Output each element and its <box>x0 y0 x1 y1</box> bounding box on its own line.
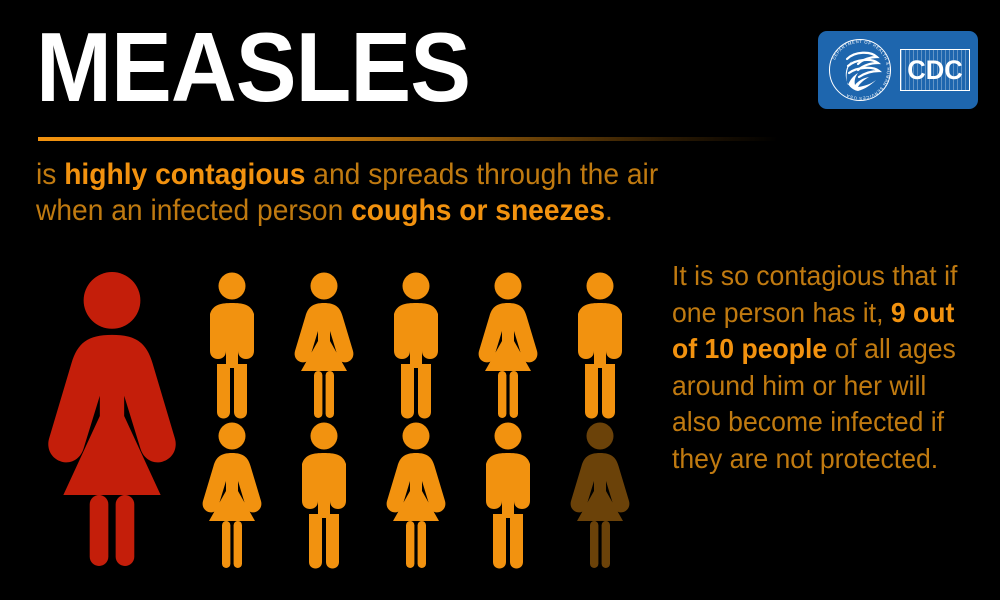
subtitle-part-3: . <box>605 194 613 227</box>
person-figure-male <box>472 421 544 569</box>
person-figure-female-protected <box>564 421 636 569</box>
person-figure-male <box>196 271 268 419</box>
cdc-logo[interactable]: DEPARTMENT OF HEALTH & HUMAN SERVICES US… <box>818 31 978 109</box>
person-figure-male <box>288 421 360 569</box>
person-figure-male <box>380 271 452 419</box>
person-figure-female <box>472 271 544 419</box>
subtitle-part-1: is <box>36 158 64 191</box>
page-title: MEASLES <box>36 18 470 116</box>
person-figure-male <box>564 271 636 419</box>
measles-infographic: MEASLES is highly contagious and spreads… <box>0 0 1000 600</box>
title-divider <box>38 137 778 141</box>
contagion-explanation: It is so contagious that if one person h… <box>672 258 976 477</box>
people-row-2 <box>196 421 636 569</box>
subtitle-highlight-2: coughs or sneezes <box>351 194 605 227</box>
people-row-1 <box>196 271 636 419</box>
person-figure-female <box>288 271 360 419</box>
subtitle-text: is highly contagious and spreads through… <box>36 157 675 229</box>
hhs-seal-icon: DEPARTMENT OF HEALTH & HUMAN SERVICES US… <box>825 35 895 105</box>
cdc-wordmark-box: CDC <box>900 49 970 91</box>
subtitle-highlight-1: highly contagious <box>64 158 305 191</box>
person-figure-female <box>380 421 452 569</box>
person-figure-female <box>196 421 268 569</box>
cdc-wordmark-text: CDC <box>903 50 968 90</box>
source-case-figure <box>28 268 196 568</box>
